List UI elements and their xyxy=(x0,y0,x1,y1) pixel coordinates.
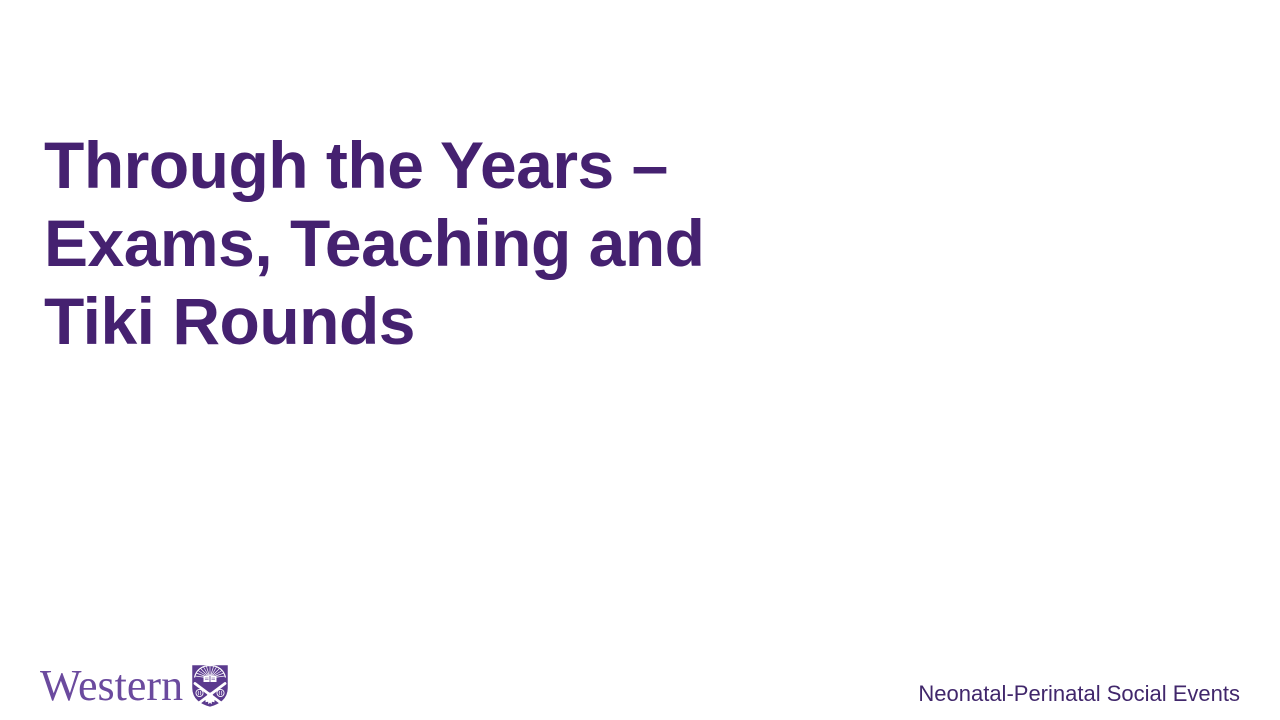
western-wordmark: Western xyxy=(40,664,183,708)
slide-canvas: Through the Years – Exams, Teaching and … xyxy=(0,0,1280,720)
page-title: Through the Years – Exams, Teaching and … xyxy=(44,126,804,360)
western-logo: Western xyxy=(40,662,230,710)
western-shield-crest-icon xyxy=(190,663,230,709)
title-placeholder: Through the Years – Exams, Teaching and … xyxy=(44,126,804,360)
footer-note: Neonatal-Perinatal Social Events xyxy=(918,680,1240,708)
